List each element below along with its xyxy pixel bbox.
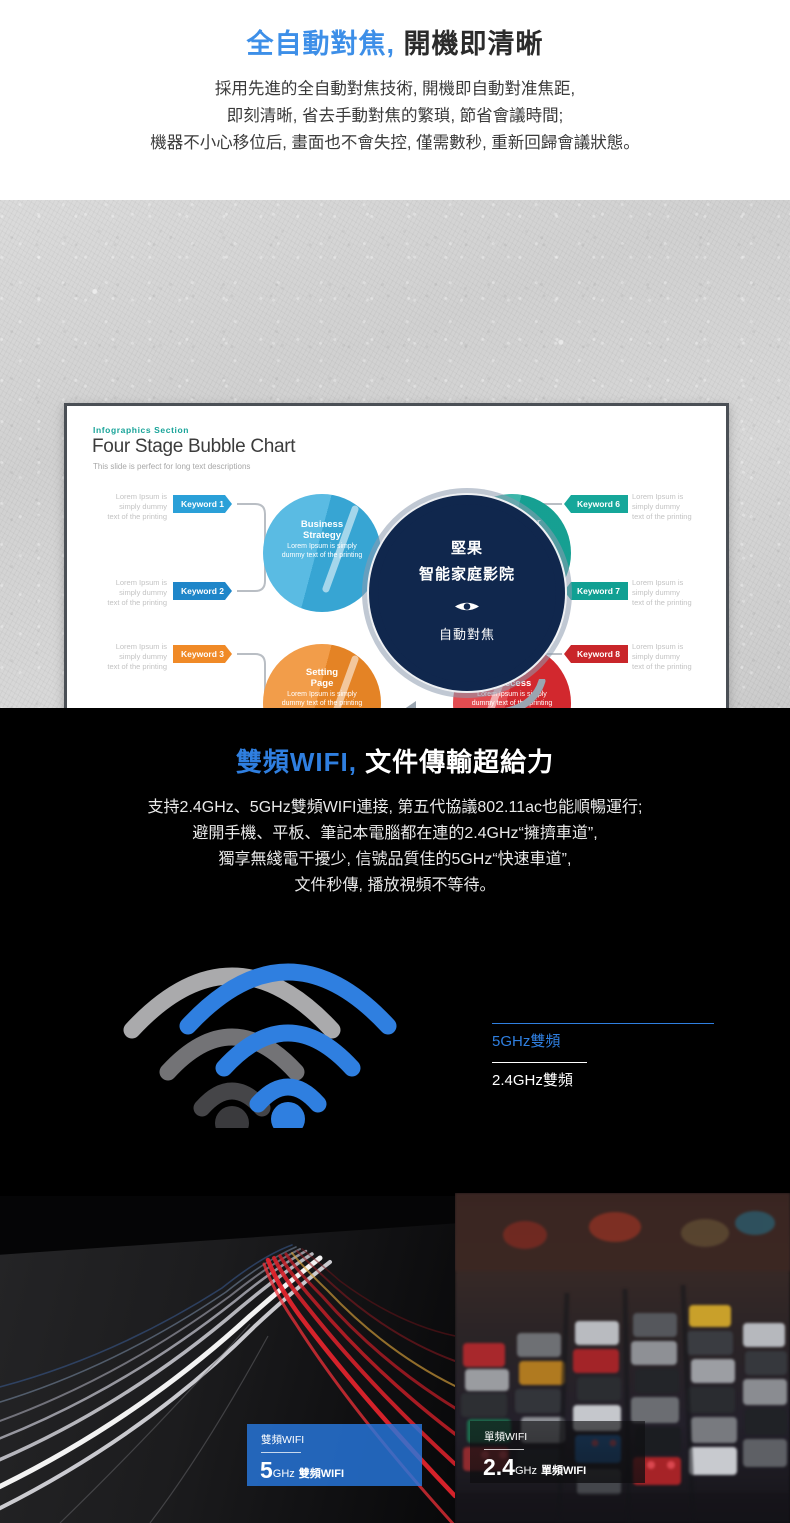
- wifi-title: 雙頻WIFI, 文件傳輸超給力: [0, 708, 790, 779]
- badge-divider: [261, 1452, 301, 1453]
- bubble-body: Lorem Ipsum is simply dummy text of the …: [263, 691, 381, 708]
- wifi-signal-icon: [120, 948, 440, 1128]
- headline-rest: 開機即清晰: [404, 29, 544, 59]
- core-brand-line2: 智能家庭影院: [378, 563, 556, 584]
- bubble-body: Lorem Ipsum is simply dummy text of the …: [263, 543, 381, 560]
- keyword-tag-7[interactable]: Keyword 7: [564, 582, 628, 600]
- intro-copy: 採用先進的全自動對焦技術, 開機即自動對准焦距, 即刻清晰, 省去手動對焦的繁瑣…: [0, 76, 790, 156]
- lorem-text: Lorem Ipsum is simply dummy text of the …: [105, 578, 167, 608]
- slide-subtitle: This slide is perfect for long text desc…: [93, 462, 250, 471]
- bubble-business-strategy[interactable]: BusinessStrategy Lorem Ipsum is simply d…: [263, 494, 381, 612]
- projection-screen: Infographics Section Four Stage Bubble C…: [64, 403, 729, 708]
- badge-single-band: 單頻WIFI 2.4GHz單頻WIFI: [470, 1421, 645, 1483]
- lorem-text: Lorem Ipsum is simply dummy text of the …: [632, 578, 694, 608]
- badge-value-row: 2.4GHz單頻WIFI: [483, 1454, 645, 1481]
- keyword-tag-2[interactable]: Keyword 2: [173, 582, 232, 600]
- core-brand-line1: 堅果: [378, 537, 556, 558]
- intro-section: 全自動對焦, 開機即清晰 採用先進的全自動對焦技術, 開機即自動對准焦距, 即刻…: [0, 0, 790, 200]
- intro-line: 採用先進的全自動對焦技術, 開機即自動對准焦距,: [0, 76, 790, 103]
- lorem-text: Lorem Ipsum is simply dummy text of the …: [105, 642, 167, 672]
- wifi-copy: 支持2.4GHz、5GHz雙頻WIFI連接, 第五代協議802.11ac也能順暢…: [0, 795, 790, 899]
- bubble-setting-page[interactable]: SettingPage Lorem Ipsum is simply dummy …: [263, 644, 381, 708]
- cycle-arrow-icon: [382, 679, 554, 708]
- wifi-line: 文件秒傳, 播放視頻不等待。: [0, 873, 790, 899]
- keyword-tag-3[interactable]: Keyword 3: [173, 645, 232, 663]
- keyword-tag-6[interactable]: Keyword 6: [564, 495, 628, 513]
- wifi-section: 雙頻WIFI, 文件傳輸超給力 支持2.4GHz、5GHz雙頻WIFI連接, 第…: [0, 708, 790, 1188]
- badge-tail: 雙頻WIFI: [299, 1468, 344, 1480]
- wifi-line: 支持2.4GHz、5GHz雙頻WIFI連接, 第五代協議802.11ac也能順暢…: [0, 795, 790, 821]
- badge-unit: GHz: [515, 1465, 537, 1477]
- legend-label-24g: 2.4GHz雙頻: [492, 1069, 720, 1090]
- lorem-text: Lorem Ipsum is simply dummy text of the …: [105, 492, 167, 522]
- keyword-tag-8[interactable]: Keyword 8: [564, 645, 628, 663]
- badge-value: 5: [260, 1457, 273, 1483]
- page-title: 全自動對焦, 開機即清晰: [0, 28, 790, 60]
- badge-value-row: 5GHz雙頻WIFI: [260, 1457, 422, 1484]
- badge-value: 2.4: [483, 1454, 515, 1480]
- intro-line: 即刻清晰, 省去手動對焦的繁瑣, 節省會議時間;: [0, 103, 790, 130]
- badge-tail: 單頻WIFI: [541, 1465, 586, 1477]
- badge-unit: GHz: [273, 1468, 295, 1480]
- lorem-text: Lorem Ipsum is simply dummy text of the …: [632, 642, 694, 672]
- core-brand-circle: 堅果 智能家庭影院 自動對焦: [378, 504, 556, 682]
- legend-line-24g: [492, 1062, 587, 1063]
- wifi-line: 避開手機、平板、筆記本電腦都在連的2.4GHz“擁擠車道”,: [0, 821, 790, 847]
- bubble-chart: Lorem Ipsum is simply dummy text of the …: [67, 486, 729, 708]
- badge-caption: 單頻WIFI: [484, 1429, 645, 1444]
- eye-icon: [378, 600, 556, 618]
- lorem-text: Lorem Ipsum is simply dummy text of the …: [632, 492, 694, 522]
- keyword-tag-1[interactable]: Keyword 1: [173, 495, 232, 513]
- core-caption: 自動對焦: [378, 624, 556, 643]
- wifi-title-highlight: 雙頻WIFI,: [236, 747, 357, 777]
- badge-dual-band: 雙頻WIFI 5GHz雙頻WIFI: [247, 1424, 422, 1486]
- bubble-title: BusinessStrategy: [263, 494, 381, 541]
- badge-divider: [484, 1449, 524, 1450]
- wifi-legend: 5GHz雙頻 2.4GHz雙頻: [492, 1023, 720, 1090]
- intro-line: 機器不小心移位后, 畫面也不會失控, 僅需數秒, 重新回歸會議狀態。: [0, 130, 790, 157]
- bubble-title: SettingPage: [263, 644, 381, 689]
- legend-line-5g: [492, 1023, 714, 1024]
- wifi-title-rest: 文件傳輸超給力: [365, 747, 554, 777]
- slide-title: Four Stage Bubble Chart: [92, 436, 295, 458]
- badge-caption: 雙頻WIFI: [261, 1432, 422, 1447]
- headline-highlight: 全自動對焦,: [246, 29, 395, 59]
- legend-label-5g: 5GHz雙頻: [492, 1030, 720, 1051]
- slide-kicker: Infographics Section: [93, 425, 189, 435]
- wifi-line: 獨享無綫電干擾少, 信號品質佳的5GHz“快速車道”,: [0, 847, 790, 873]
- projector-scene: Infographics Section Four Stage Bubble C…: [0, 200, 790, 708]
